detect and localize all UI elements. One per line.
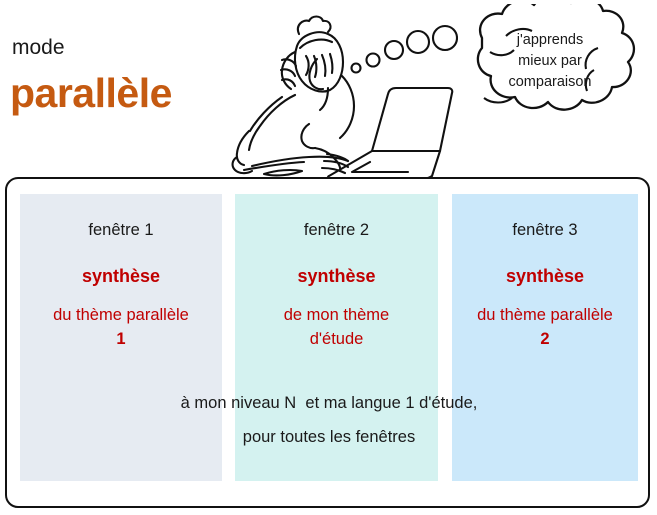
window-label-2: fenêtre 2 bbox=[235, 221, 438, 240]
synthesis-heading-1: synthèse bbox=[20, 266, 222, 287]
header-area: mode parallèle bbox=[0, 0, 657, 178]
synthesis-subtitle-3-line-1: du thème parallèle bbox=[477, 306, 613, 324]
thought-bubble-line-3: comparaison bbox=[446, 72, 654, 93]
synthesis-heading-2: synthèse bbox=[235, 266, 438, 287]
synthesis-subtitle-2: de mon thème d'étude bbox=[235, 303, 438, 351]
synthesis-subtitle-2-line-1: de mon thème bbox=[284, 306, 389, 324]
page-title: parallèle bbox=[10, 70, 172, 117]
synthesis-subtitle-1: du thème parallèle 1 bbox=[20, 303, 222, 351]
synthesis-heading-3: synthèse bbox=[452, 266, 638, 287]
thought-trail-dots bbox=[348, 24, 458, 78]
window-label-1: fenêtre 1 bbox=[20, 221, 222, 240]
window-column-3[interactable]: fenêtre 3 synthèse du thème parallèle 2 bbox=[452, 194, 638, 481]
windows-columns: fenêtre 1 synthèse du thème parallèle 1 … bbox=[20, 194, 638, 481]
synthesis-subtitle-1-line-2: 1 bbox=[116, 330, 125, 348]
thought-bubble-text: j'apprends mieux par comparaison bbox=[446, 30, 654, 93]
window-label-3: fenêtre 3 bbox=[452, 221, 638, 240]
mode-label: mode bbox=[12, 36, 65, 60]
thought-bubble-line-2: mieux par bbox=[446, 51, 654, 72]
window-column-1[interactable]: fenêtre 1 synthèse du thème parallèle 1 bbox=[20, 194, 222, 481]
window-column-2[interactable]: fenêtre 2 synthèse de mon thème d'étude bbox=[235, 194, 438, 481]
thought-bubble-line-1: j'apprends bbox=[446, 30, 654, 51]
synthesis-subtitle-3: du thème parallèle 2 bbox=[452, 303, 638, 351]
synthesis-subtitle-3-line-2: 2 bbox=[540, 330, 549, 348]
synthesis-subtitle-2-line-2: d'étude bbox=[310, 330, 364, 348]
synthesis-subtitle-1-line-1: du thème parallèle bbox=[53, 306, 189, 324]
